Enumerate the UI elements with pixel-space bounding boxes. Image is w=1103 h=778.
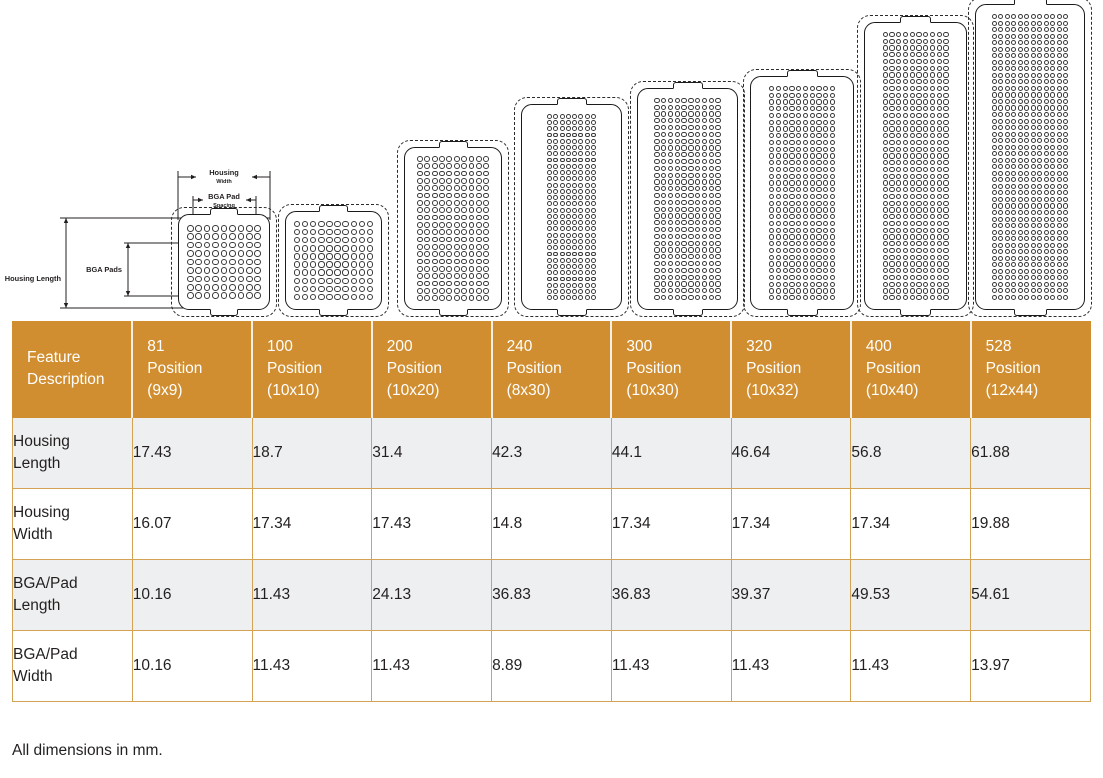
bga-pad [998,158,1003,163]
bga-pad [695,186,700,191]
bga-pad [916,106,921,111]
bga-pad [823,248,828,253]
bga-pad [1044,249,1049,254]
bga-pad [461,178,467,184]
bga-pad [783,126,788,131]
header-word: Position [387,360,442,377]
bga-pad [351,253,357,259]
table-row: HousingWidth16.0717.3417.4314.817.3417.3… [13,489,1091,560]
bga-pad [810,86,815,91]
bga-pad [823,282,828,287]
bga-pad [1063,21,1068,26]
bga-pad [547,145,552,150]
table-cell-value: 36.83 [611,560,731,631]
bga-pad [769,93,774,98]
bga-pad [823,207,828,212]
bga-pad [769,295,774,300]
bga-pad [668,193,673,198]
header-count: 100 [267,338,293,355]
bga-pad [896,106,901,111]
bga-pad [816,140,821,145]
bga-pad [476,259,482,265]
bga-pad [943,228,948,233]
row-label-cell: HousingWidth [13,489,133,560]
bga-pad [923,160,928,165]
bga-pad [1005,230,1010,235]
bga-pad [1044,86,1049,91]
bga-pad [1050,223,1055,228]
bga-pad [476,273,482,279]
bga-pad [254,233,261,240]
bga-pad [1011,53,1016,58]
bga-pad [923,72,928,77]
bga-pad [796,207,801,212]
bga-pad [1037,190,1042,195]
bga-pad [1063,184,1068,189]
bga-pad [566,252,571,257]
bga-pad [417,244,423,250]
bga-pad [1005,105,1010,110]
bga-pad [668,213,673,218]
bga-pad [302,253,308,259]
bga-pad [302,286,308,292]
bga-pad [585,120,590,125]
bga-pad [769,140,774,145]
bga-pad [688,275,693,280]
bga-pad [998,203,1003,208]
bga-pad [823,221,828,226]
bga-pad [1037,230,1042,235]
bga-pad [461,237,467,243]
bga-pad [998,105,1003,110]
bga-pad [992,105,997,110]
bga-pad [889,228,894,233]
bga-pad [889,52,894,57]
bga-pad [585,264,590,269]
bga-pad [1050,243,1055,248]
bga-pad [796,174,801,179]
bga-pad [1057,79,1062,84]
bga-pad [992,275,997,280]
bga-pad [1057,203,1062,208]
bga-pad [318,221,324,227]
bga-pad [238,284,245,291]
bga-pad [789,214,794,219]
bga-pad [889,133,894,138]
bga-pad [796,120,801,125]
bga-pad [1031,125,1036,130]
bga-pad [1011,269,1016,274]
bga-pad [896,120,901,125]
bga-pad [910,187,915,192]
bga-pad [572,164,577,169]
bga-pad [715,241,720,246]
bga-pad [547,201,552,206]
bga-pad [1044,217,1049,222]
bga-pad [930,214,935,219]
bga-pad [776,120,781,125]
bga-pad [238,242,245,249]
bga-pad [1044,47,1049,52]
bga-pad [591,252,596,257]
bga-pad [937,126,942,131]
bga-pad [803,160,808,165]
bga-pad [896,207,901,212]
column-header-100: 100 Position (10x10) [252,322,372,418]
bga-pad [769,282,774,287]
bga-pad [998,190,1003,195]
bga-pad [461,288,467,294]
bga-pad [1037,210,1042,215]
bga-pad [1044,164,1049,169]
bga-pad [1011,34,1016,39]
bga-pad [1037,256,1042,261]
bga-pad [566,114,571,119]
bga-pad [553,120,558,125]
bga-pad [709,179,714,184]
bga-pad [585,195,590,200]
bga-pad [294,221,300,227]
bga-pad [1031,21,1036,26]
column-header-81: 81 Position (9x9) [132,322,252,418]
bga-pad [585,239,590,244]
bga-pad [930,207,935,212]
bga-pad [783,207,788,212]
bga-pad [992,158,997,163]
bga-pad [830,133,835,138]
bga-pad [560,270,565,275]
header-word: Position [267,360,322,377]
bga-pad [461,281,467,287]
bga-pad [715,213,720,218]
bga-pad [823,261,828,266]
bga-pad [367,269,373,275]
bga-pad [553,258,558,263]
bga-pad [469,200,475,206]
bga-pad [1037,125,1042,130]
bga-pad [246,233,253,240]
bga-pad [769,194,774,199]
bga-pad [816,288,821,293]
bga-pad [923,120,928,125]
bga-pad [796,133,801,138]
bga-pad [910,99,915,104]
row-label-line1: BGA/Pad [13,646,78,663]
bga-pad [1005,21,1010,26]
table-row: BGA/PadLength10.1611.4324.1336.8336.8339… [13,560,1091,631]
bga-pad [903,282,908,287]
bga-pad [816,153,821,158]
bga-pad [318,253,324,259]
table-cell-value: 61.88 [971,418,1091,489]
bga-pad [992,47,997,52]
bga-pad [578,233,583,238]
bga-pad [810,167,815,172]
bga-pad [1018,79,1023,84]
bga-pad [1031,288,1036,293]
bga-pad [789,228,794,233]
table-cell-value: 17.34 [731,489,851,560]
bga-pad [578,158,583,163]
bga-pad [923,133,928,138]
bga-pad [715,275,720,280]
bga-pad [310,237,316,243]
table-row: BGA/PadWidth10.1611.4311.438.8911.4311.4… [13,631,1091,702]
bga-pad [810,241,815,246]
bga-pad [776,180,781,185]
bga-pad [992,217,997,222]
bga-pad [992,138,997,143]
bga-pad [1050,47,1055,52]
bga-pad [1031,177,1036,182]
bga-pad [688,288,693,293]
bga-pad [668,227,673,232]
bga-pad [1031,40,1036,45]
bga-pad [816,113,821,118]
bga-pad [903,153,908,158]
bga-pad [578,258,583,263]
bga-pad [943,282,948,287]
bga-pad [469,281,475,287]
bga-pad [432,281,438,287]
bga-pad [221,259,228,266]
bga-pad [1044,53,1049,58]
bga-pad [1063,86,1068,91]
bga-pad [783,228,788,233]
bga-pad [998,243,1003,248]
bga-pad [483,171,489,177]
bga-pad [889,288,894,293]
bga-pad [883,72,888,77]
bga-pad [318,237,324,243]
bga-pad [916,126,921,131]
bga-pad [992,60,997,65]
bga-pad [1031,151,1036,156]
bga-pad [572,226,577,231]
bga-pad [992,119,997,124]
bga-pad [591,176,596,181]
bga-pad [923,288,928,293]
bga-pad [1037,151,1042,156]
bga-pad [1018,73,1023,78]
bga-pad [654,200,659,205]
bga-pad [547,258,552,263]
bga-pad [816,241,821,246]
bga-pad [1057,295,1062,300]
bga-pad [424,244,430,250]
bga-pad [334,245,340,251]
bga-pad [823,228,828,233]
bga-pad [688,268,693,273]
bga-pad [1011,177,1016,182]
bga-pad [830,288,835,293]
bga-pad [943,153,948,158]
bga-pad [709,200,714,205]
bga-pad [992,203,997,208]
bga-pad [367,278,373,284]
bga-pad [572,189,577,194]
bga-pad [769,174,774,179]
bga-pad [195,233,202,240]
bga-pad [776,153,781,158]
bga-pad [591,270,596,275]
bga-pad [695,247,700,252]
bga-pad [702,213,707,218]
bga-pad [654,261,659,266]
bga-pad [930,194,935,199]
bga-pad [709,173,714,178]
bga-pad [446,171,452,177]
bga-pad [823,255,828,260]
bga-pad [783,86,788,91]
bga-pad [715,98,720,103]
bga-pad [830,140,835,145]
bga-pad [661,261,666,266]
bga-pad [688,173,693,178]
bga-pad [424,171,430,177]
bga-pad [1037,249,1042,254]
bga-pad [715,247,720,252]
bga-pad [302,221,308,227]
bga-pad [187,250,194,257]
bga-pad [566,151,571,156]
bga-pad [1063,269,1068,274]
bga-pad [992,40,997,45]
bga-pad [896,32,901,37]
bga-pad [789,133,794,138]
bga-pad [769,241,774,246]
bga-pad [294,237,300,243]
bga-pad [796,86,801,91]
table-cell-value: 10.16 [132,560,252,631]
bga-pad [783,214,788,219]
bga-pad [446,244,452,250]
bga-pad [591,120,596,125]
bga-pad [695,200,700,205]
bga-pad [661,166,666,171]
bga-pad [769,214,774,219]
bga-pad [883,140,888,145]
bga-pad [1037,164,1042,169]
bga-pad [342,294,348,300]
header-word: Position [147,360,202,377]
bga-pad [702,152,707,157]
bga-pad [943,255,948,260]
table-cell-value: 36.83 [492,560,612,631]
bga-pad [903,234,908,239]
bga-pad [1050,282,1055,287]
bga-pad [1031,66,1036,71]
bga-pad [903,275,908,280]
bga-pad [446,200,452,206]
bga-pad [553,226,558,231]
bga-pad [943,275,948,280]
bga-pad [910,160,915,165]
header-layout: (10x20) [387,382,440,399]
bga-pad [483,178,489,184]
bga-pad [810,295,815,300]
bga-pad [1031,171,1036,176]
bga-pad [1050,92,1055,97]
bga-pad [1050,145,1055,150]
bga-pad [1011,230,1016,235]
bga-pad [688,118,693,123]
bga-pad [816,93,821,98]
bga-pad [910,52,915,57]
bga-pad [910,201,915,206]
bga-pad [1011,197,1016,202]
bga-pad [310,294,316,300]
bga-pad [585,277,590,282]
bga-pad [1050,112,1055,117]
bga-pad [668,281,673,286]
bga-pad [715,145,720,150]
header-count: 300 [626,338,652,355]
bga-pad [1050,249,1055,254]
bga-pad [903,99,908,104]
bga-pad [916,234,921,239]
bga-pad [359,294,365,300]
bga-pad [454,222,460,228]
bga-pad [1057,275,1062,280]
header-word: Description [27,371,105,388]
bga-pad [830,113,835,118]
bga-pad [998,119,1003,124]
bga-pad [916,52,921,57]
bga-pad [916,99,921,104]
bga-pad [1024,138,1029,143]
bga-pad [654,241,659,246]
bga-pad [789,180,794,185]
bga-pad [937,207,942,212]
bga-pad [483,215,489,221]
bga-pad [560,120,565,125]
bga-pad [916,214,921,219]
bga-pad [1024,27,1029,32]
bga-pad [910,180,915,185]
bga-pad [1031,184,1036,189]
header-word: Position [746,360,801,377]
bga-pad [923,241,928,246]
bga-pad [789,234,794,239]
bga-pad [688,111,693,116]
bga-pad [715,295,720,300]
bga-pad [1018,27,1023,32]
bga-pad [803,207,808,212]
bga-pad [1011,203,1016,208]
bga-pad [923,66,928,71]
bga-pad [469,163,475,169]
bga-pad [796,255,801,260]
bga-pad [769,207,774,212]
bga-pad [1024,243,1029,248]
bga-pad [937,45,942,50]
housing-width-label: Housing [209,168,239,177]
bga-pad [359,269,365,275]
bga-pad [560,139,565,144]
bga-pad [816,221,821,226]
bga-pad [992,86,997,91]
bga-pad [1057,177,1062,182]
bga-pad [212,259,219,266]
bga-pad [668,234,673,239]
bga-pad [432,273,438,279]
bga-pad [654,213,659,218]
bga-pad [1005,34,1010,39]
bga-pad [1018,262,1023,267]
bga-pad [937,241,942,246]
bga-pad [803,295,808,300]
